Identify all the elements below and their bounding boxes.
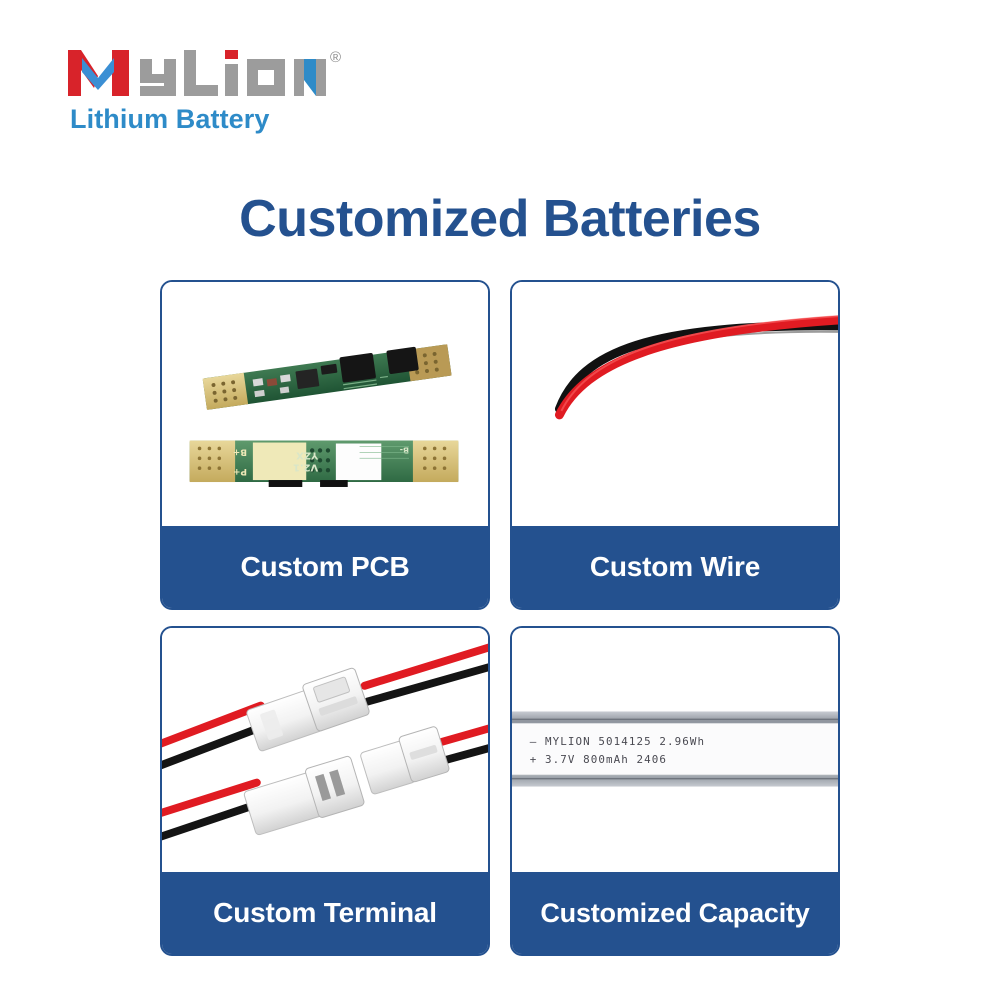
card-label-customized-capacity: Customized Capacity <box>512 872 838 954</box>
mylion-logomark-icon <box>68 48 326 98</box>
product-card-grid: V2.1 YZX B+ P+ B- <box>160 280 840 956</box>
registered-trademark-icon: ® <box>330 50 341 65</box>
battery-cell-image: — MYLION 5014125 2.96Wh + 3.7V 800mAh 24… <box>512 628 838 872</box>
svg-text:YZX: YZX <box>296 449 319 460</box>
cell-print-line2: + 3.7V 800mAh 2406 <box>530 753 667 766</box>
cell-print-line1: — MYLION 5014125 2.96Wh <box>530 735 705 748</box>
page-title: Customized Batteries <box>0 189 1000 249</box>
svg-text:V2.1: V2.1 <box>293 461 318 472</box>
card-label-custom-wire: Custom Wire <box>512 526 838 608</box>
svg-text:B+: B+ <box>233 446 247 456</box>
card-label-custom-pcb: Custom PCB <box>162 526 488 608</box>
card-custom-terminal[interactable]: Custom Terminal <box>160 626 490 956</box>
svg-text:P+: P+ <box>233 466 247 476</box>
card-custom-wire[interactable]: Custom Wire <box>510 280 840 610</box>
brand-logo: ® Lithium Battery <box>68 48 388 140</box>
card-customized-capacity[interactable]: — MYLION 5014125 2.96Wh + 3.7V 800mAh 24… <box>510 626 840 956</box>
wire-image <box>512 282 838 526</box>
brand-subtitle: Lithium Battery <box>70 104 270 135</box>
card-label-custom-terminal: Custom Terminal <box>162 872 488 954</box>
terminal-image <box>162 628 488 872</box>
card-custom-pcb[interactable]: V2.1 YZX B+ P+ B- <box>160 280 490 610</box>
pcb-image: V2.1 YZX B+ P+ B- <box>162 282 488 526</box>
